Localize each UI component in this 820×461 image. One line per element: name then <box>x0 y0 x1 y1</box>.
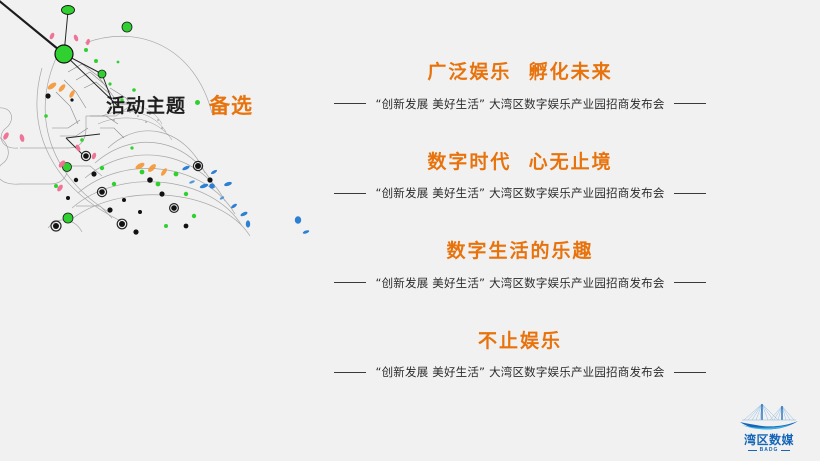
theme-option-1[interactable]: 广泛娱乐 孵化未来 “创新发展 美好生活” 大湾区数字娱乐产业园招商发布会 <box>290 58 750 112</box>
theme-option-subtitle-row: “创新发展 美好生活” 大湾区数字娱乐产业园招商发布会 <box>290 364 750 380</box>
slide-canvas: data-stream 活动主题 <box>0 0 820 461</box>
rule-left-icon <box>334 372 366 373</box>
page-title-main: 活动主题 <box>106 97 186 116</box>
rule-right-icon <box>674 372 706 373</box>
theme-option-subtitle: “创新发展 美好生活” 大湾区数字娱乐产业园招商发布会 <box>375 185 664 201</box>
brand-name-cn: 湾区数媒 <box>744 434 794 446</box>
green-dot-icon <box>195 100 200 105</box>
rule-left-icon <box>334 193 366 194</box>
theme-option-list: 广泛娱乐 孵化未来 “创新发展 美好生活” 大湾区数字娱乐产业园招商发布会 数字… <box>290 58 750 380</box>
rule-right-icon <box>674 282 706 283</box>
rule-left-icon <box>748 450 757 451</box>
theme-option-title: 数字时代 心无止境 <box>290 148 750 177</box>
theme-option-title: 广泛娱乐 孵化未来 <box>290 58 750 87</box>
theme-option-3[interactable]: 数字生活的乐趣 “创新发展 美好生活” 大湾区数字娱乐产业园招商发布会 <box>290 237 750 291</box>
rule-right-icon <box>781 450 790 451</box>
theme-option-4[interactable]: 不止娱乐 “创新发展 美好生活” 大湾区数字娱乐产业园招商发布会 <box>290 327 750 381</box>
rule-left-icon <box>334 103 366 104</box>
rule-right-icon <box>674 193 706 194</box>
page-title-alt: 备选 <box>209 96 253 117</box>
theme-option-subtitle: “创新发展 美好生活” 大湾区数字娱乐产业园招商发布会 <box>375 275 664 291</box>
bridge-logo-icon <box>736 401 802 433</box>
theme-option-subtitle-row: “创新发展 美好生活” 大湾区数字娱乐产业园招商发布会 <box>290 185 750 201</box>
brand-name-row: 湾区数媒 <box>744 434 794 446</box>
theme-option-title: 数字生活的乐趣 <box>290 237 750 266</box>
theme-option-subtitle: “创新发展 美好生活” 大湾区数字娱乐产业园招商发布会 <box>375 96 664 112</box>
brand-name-en-row: BADG <box>748 448 791 453</box>
rule-right-icon <box>674 103 706 104</box>
theme-option-2[interactable]: 数字时代 心无止境 “创新发展 美好生活” 大湾区数字娱乐产业园招商发布会 <box>290 148 750 202</box>
brand-logo: 湾区数媒 BADG <box>732 395 806 453</box>
network-node-art: data-stream <box>0 0 320 238</box>
theme-option-subtitle: “创新发展 美好生活” 大湾区数字娱乐产业园招商发布会 <box>375 364 664 380</box>
brand-name-en: BADG <box>760 448 779 453</box>
page-title: 活动主题 备选 <box>106 96 253 117</box>
rule-left-icon <box>334 282 366 283</box>
theme-option-subtitle-row: “创新发展 美好生活” 大湾区数字娱乐产业园招商发布会 <box>290 275 750 291</box>
theme-option-subtitle-row: “创新发展 美好生活” 大湾区数字娱乐产业园招商发布会 <box>290 96 750 112</box>
theme-option-title: 不止娱乐 <box>290 327 750 356</box>
